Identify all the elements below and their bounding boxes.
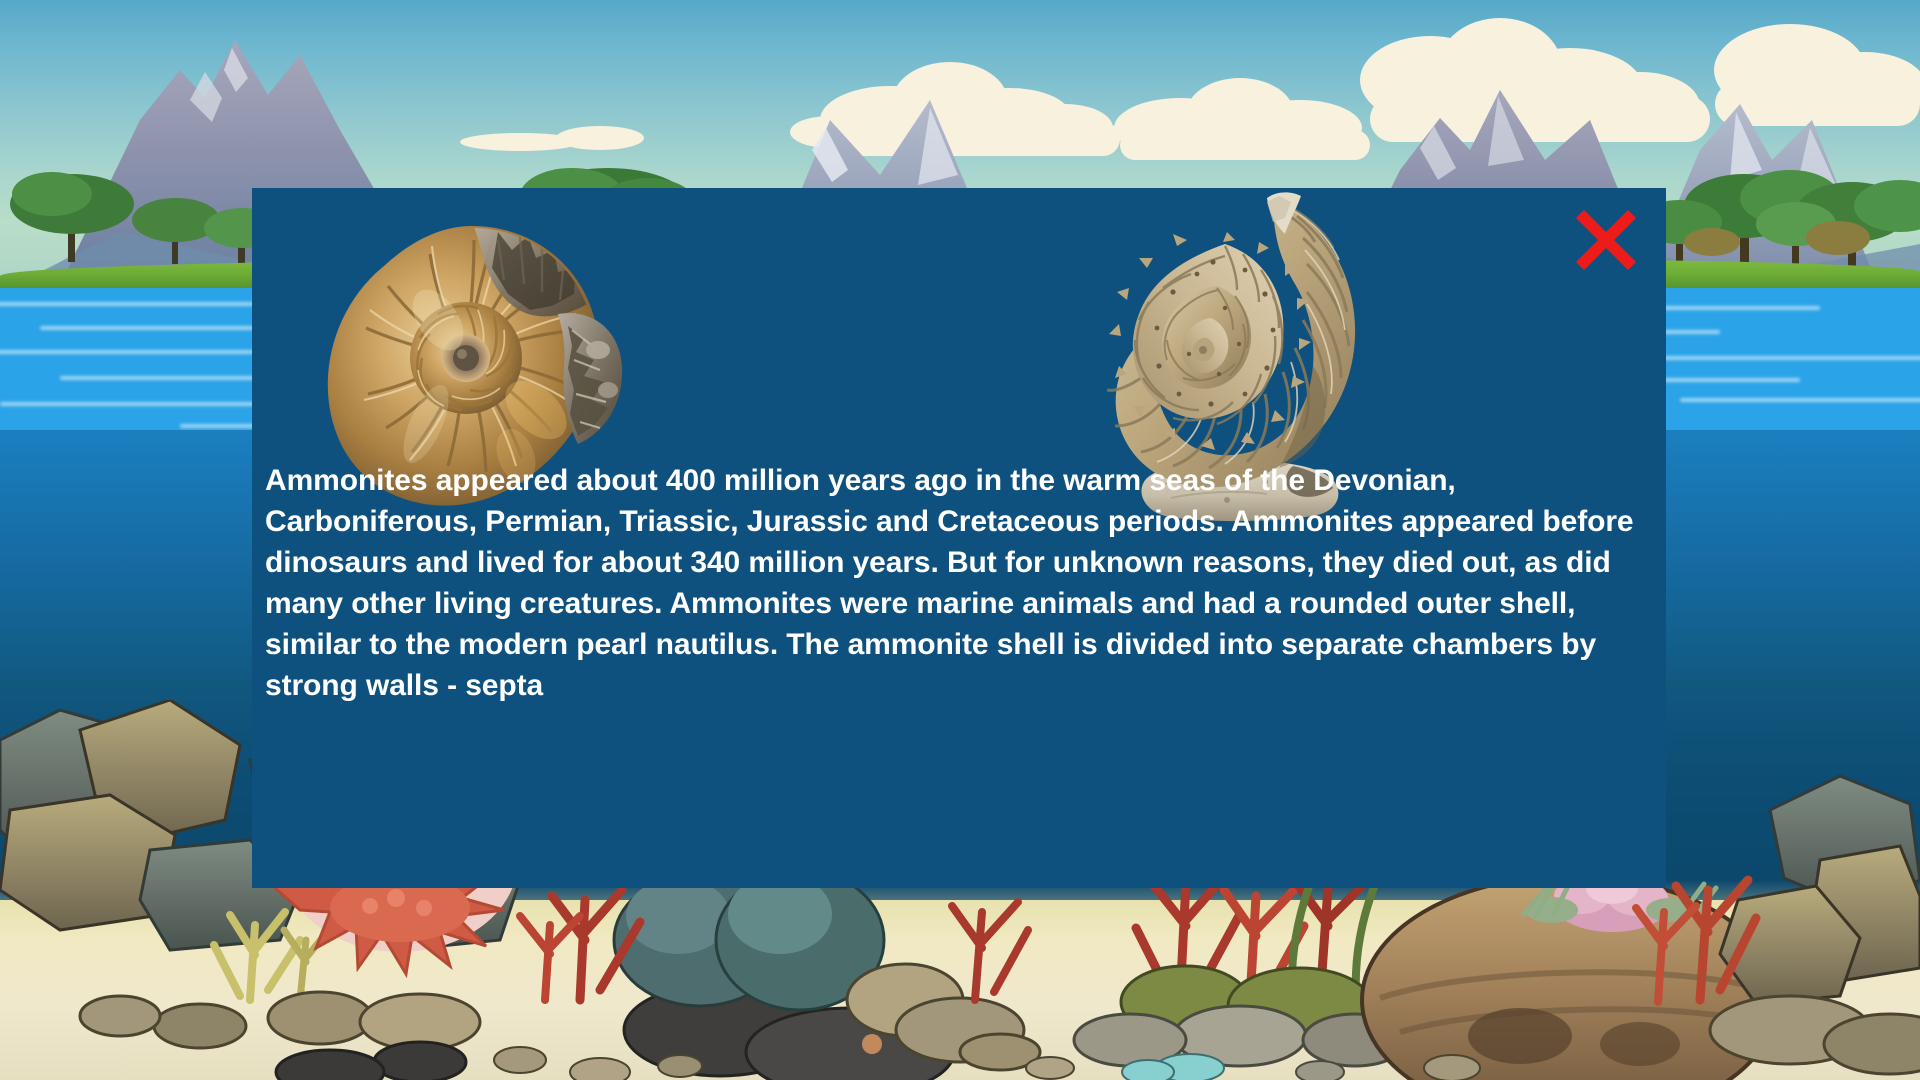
screen: Ammonites appeared about 400 million yea…	[0, 0, 1920, 1080]
ammonites-info-dialog: Ammonites appeared about 400 million yea…	[252, 188, 1666, 888]
panel-body-text: Ammonites appeared about 400 million yea…	[265, 460, 1650, 706]
